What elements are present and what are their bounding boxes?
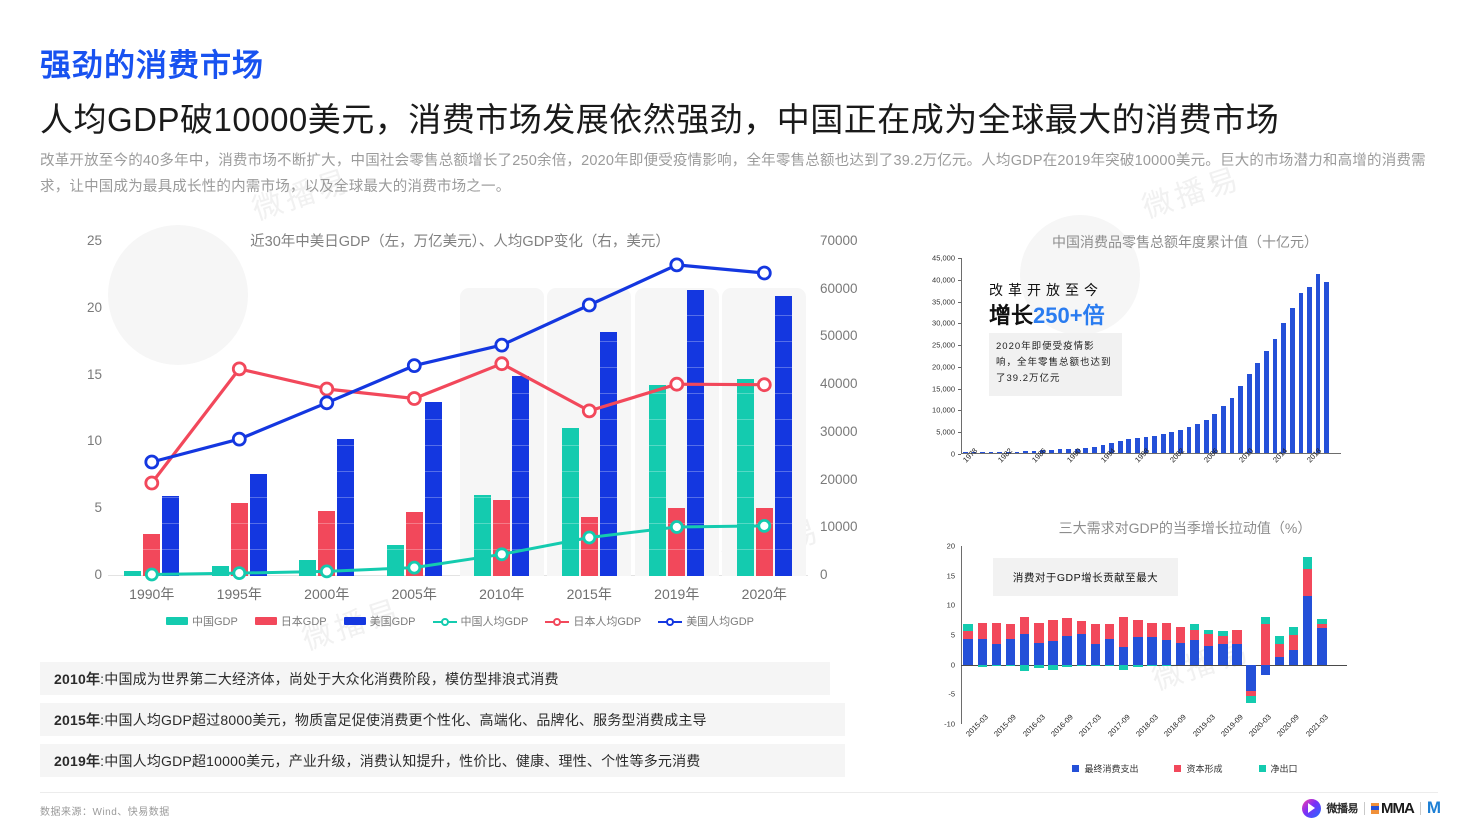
stacked-segment-最终消费支出 — [1147, 637, 1156, 665]
legend-item-美国GDP[interactable]: 美国GDP — [344, 613, 416, 629]
stacked-segment-资本形成 — [1232, 630, 1241, 645]
y-axis-tick-right: 30000 — [820, 424, 858, 439]
retail-growth-suffix: 倍 — [1083, 303, 1105, 328]
gdp-pull-legend: 最终消费支出资本形成净出口 — [905, 762, 1465, 775]
gdp-compare-chart: 近30年中美日GDP（左，万亿美元）、人均GDP变化（右，美元） 中国GDP日本… — [30, 228, 890, 638]
line-marker — [233, 433, 245, 445]
line-marker — [758, 379, 770, 391]
line-marker — [321, 566, 332, 577]
y-axis-tickmark — [958, 280, 961, 281]
x-axis-tick: 2018-03 — [1134, 713, 1160, 739]
stacked-segment-最终消费支出 — [992, 644, 1001, 665]
x-axis-tick: 1982 — [996, 446, 1014, 464]
y-axis-tickmark — [958, 258, 961, 259]
logo-divider — [1364, 802, 1365, 815]
retail-bar — [1264, 351, 1269, 453]
stacked-segment-净出口 — [1091, 665, 1100, 666]
brand-name-cn: 微播易 — [1327, 800, 1359, 816]
gdp-compare-plot — [108, 242, 808, 576]
x-axis-tick: 1990年 — [129, 584, 174, 604]
line-marker — [409, 562, 420, 573]
stacked-segment-最终消费支出 — [1232, 644, 1241, 664]
legend-label: 美国GDP — [370, 613, 416, 629]
line-marker — [146, 569, 157, 580]
stacked-segment-净出口 — [963, 624, 972, 631]
y-axis-tick: 10 — [947, 601, 955, 610]
stacked-segment-最终消费支出 — [1190, 640, 1199, 664]
retail-bar — [1152, 436, 1157, 453]
retail-bar — [1238, 386, 1243, 453]
y-axis-tick: 20 — [947, 542, 955, 551]
y-axis-tick-right: 50000 — [820, 328, 858, 343]
line-marker — [671, 259, 683, 271]
stacked-segment-最终消费支出 — [1062, 636, 1071, 665]
line-marker — [759, 520, 770, 531]
stacked-segment-净出口 — [1133, 665, 1142, 667]
retail-bar — [1221, 406, 1226, 453]
legend-line-swatch — [545, 617, 569, 626]
x-axis-tick: 2010年 — [479, 584, 524, 604]
logo-divider — [1420, 802, 1421, 815]
note-2010: 2010年:中国成为世界第二大经济体，尚处于大众化消费阶段，模仿型排浪式消费 — [40, 662, 830, 695]
legend-label: 美国人均GDP — [686, 613, 754, 629]
y-axis-tick: -10 — [944, 720, 955, 729]
mma-logo: MMA — [1371, 800, 1414, 817]
stacked-segment-最终消费支出 — [1317, 628, 1326, 665]
y-axis-tickmark — [958, 410, 961, 411]
retail-bar — [1281, 323, 1286, 453]
stacked-segment-资本形成 — [1105, 624, 1114, 639]
stacked-segment-最终消费支出 — [1006, 639, 1015, 665]
stacked-segment-资本形成 — [1006, 624, 1015, 638]
retail-bar — [1092, 447, 1097, 453]
stacked-segment-资本形成 — [1275, 644, 1284, 656]
stacked-segment-资本形成 — [1034, 623, 1043, 643]
retail-bar — [1126, 439, 1131, 453]
y-axis-tickmark — [958, 389, 961, 390]
legend-item-中国人均GDP[interactable]: 中国人均GDP — [433, 613, 529, 629]
y-axis-tick-right: 20000 — [820, 472, 858, 487]
gdp-percapita-lines — [108, 242, 808, 576]
y-axis-tick: 35,000 — [932, 297, 955, 306]
retail-total-chart: 中国消费品零售总额年度累计值（十亿元） 05,00010,00015,00020… — [905, 232, 1465, 498]
retail-bar — [1324, 282, 1329, 453]
y-axis-tick: 20,000 — [932, 362, 955, 371]
retail-total-title: 中国消费品零售总额年度累计值（十亿元） — [905, 232, 1465, 252]
retail-bar — [1058, 449, 1063, 453]
stacked-segment-资本形成 — [992, 623, 1001, 644]
stacked-segment-资本形成 — [1218, 636, 1227, 644]
y-axis-tick-right: 60000 — [820, 281, 858, 296]
stacked-segment-最终消费支出 — [1105, 639, 1114, 665]
stacked-segment-最终消费支出 — [1218, 644, 1227, 665]
stacked-segment-资本形成 — [1176, 627, 1185, 643]
legend-item-美国人均GDP[interactable]: 美国人均GDP — [658, 613, 754, 629]
slide-root: 微播易 微播易 微播易 微播易 微播易 强劲的消费市场 人均GDP破10000美… — [0, 0, 1478, 832]
x-axis-tick: 2019-03 — [1191, 713, 1217, 739]
y-axis-tick-right: 0 — [820, 567, 828, 582]
legend-label: 中国人均GDP — [461, 613, 529, 629]
page-kicker: 强劲的消费市场 — [40, 40, 264, 85]
x-axis-tick: 2019-09 — [1219, 713, 1245, 739]
stacked-segment-净出口 — [1317, 619, 1326, 624]
y-axis-tickmark — [958, 454, 961, 455]
stacked-segment-最终消费支出 — [1204, 646, 1213, 665]
y-axis-tick: 0 — [951, 660, 955, 669]
x-axis-tick: 1995年 — [217, 584, 262, 604]
retail-bar — [1169, 432, 1174, 453]
stacked-segment-最终消费支出 — [1133, 637, 1142, 665]
stacked-segment-资本形成 — [1317, 624, 1326, 628]
stacked-segment-最终消费支出 — [963, 639, 972, 665]
stacked-segment-最终消费支出 — [978, 639, 987, 665]
legend-swatch — [1259, 765, 1266, 772]
stacked-segment-净出口 — [1162, 665, 1171, 667]
legend-line-swatch — [433, 617, 457, 626]
footer-divider — [40, 792, 1438, 793]
line-marker — [146, 456, 158, 468]
y-axis-tick-left: 0 — [76, 567, 102, 582]
legend-label: 中国GDP — [192, 613, 238, 629]
play-icon — [1302, 799, 1321, 818]
line-marker — [234, 568, 245, 579]
line-中国人均GDP — [152, 526, 765, 575]
stacked-segment-最终消费支出 — [1275, 657, 1284, 665]
y-axis-tick-left: 15 — [76, 367, 102, 382]
stacked-segment-最终消费支出 — [1246, 665, 1255, 691]
legend-label: 日本人均GDP — [573, 613, 641, 629]
y-axis-line — [961, 546, 962, 724]
x-axis-tick: 2015-03 — [964, 713, 990, 739]
stacked-segment-最终消费支出 — [1077, 634, 1086, 665]
legend-label: 最终消费支出 — [1084, 762, 1138, 775]
stacked-segment-资本形成 — [1077, 621, 1086, 633]
legend-item-最终消费支出[interactable]: 最终消费支出 — [1072, 762, 1138, 775]
stacked-segment-净出口 — [992, 665, 1001, 667]
line-marker — [408, 393, 420, 405]
retail-bar — [1247, 374, 1252, 453]
retail-growth-number: 增长250+倍 — [989, 298, 1105, 330]
legend-swatch — [1072, 765, 1079, 772]
retail-bar — [1083, 448, 1088, 453]
legend-swatch — [166, 617, 188, 625]
y-axis-tickmark — [958, 345, 961, 346]
retail-growth-value: 250+ — [1033, 303, 1083, 328]
x-axis-tick: 2015-09 — [992, 713, 1018, 739]
x-axis-tick: 2017-03 — [1077, 713, 1103, 739]
footer-logo: 微播易 MMA M — [1302, 798, 1441, 818]
y-axis-tick-left: 10 — [76, 433, 102, 448]
stacked-segment-净出口 — [1077, 665, 1086, 667]
stacked-segment-资本形成 — [1147, 623, 1156, 637]
x-axis-tick: 2019年 — [654, 584, 699, 604]
retail-bar — [989, 452, 994, 453]
page-lede: 改革开放至今的40多年中，消费市场不断扩大，中国社会零售总额增长了250余倍，2… — [40, 148, 1440, 200]
y-axis-tick-right: 70000 — [820, 233, 858, 248]
y-axis-tick: 5,000 — [936, 428, 955, 437]
retail-bar — [1316, 274, 1321, 453]
legend-swatch — [255, 617, 277, 625]
gdp-pull-chart: 三大需求对GDP的当季增长拉动值（%） -10-5051015202015-03… — [905, 518, 1465, 783]
legend-item-日本人均GDP[interactable]: 日本人均GDP — [545, 613, 641, 629]
retail-bar — [1023, 451, 1028, 453]
line-marker — [671, 378, 683, 390]
stacked-segment-净出口 — [1246, 696, 1255, 703]
stacked-segment-净出口 — [1034, 665, 1043, 669]
x-axis-tick: 2021-03 — [1304, 713, 1330, 739]
mma-label: MMA — [1381, 800, 1414, 817]
stacked-segment-最终消费支出 — [1176, 643, 1185, 665]
note-2019-year: 2019年 — [54, 751, 100, 771]
y-axis-tick: 30,000 — [932, 319, 955, 328]
gdp-pull-title: 三大需求对GDP的当季增长拉动值（%） — [905, 518, 1465, 538]
retail-growth-prefix: 增长 — [989, 303, 1033, 328]
y-axis-tick-left: 5 — [76, 500, 102, 515]
stacked-segment-资本形成 — [1162, 623, 1171, 640]
retail-bar — [1118, 441, 1123, 453]
legend-item-净出口[interactable]: 净出口 — [1259, 762, 1298, 775]
stacked-segment-资本形成 — [1289, 635, 1298, 650]
retail-bar — [1290, 308, 1295, 453]
stacked-segment-净出口 — [978, 665, 987, 667]
retail-bar — [1195, 424, 1200, 453]
stacked-segment-最终消费支出 — [1289, 650, 1298, 665]
x-axis-tick: 2020年 — [742, 584, 787, 604]
line-marker — [584, 532, 595, 543]
y-axis-tick: 15,000 — [932, 384, 955, 393]
y-axis-tick: 25,000 — [932, 341, 955, 350]
retail-bar — [1307, 287, 1312, 453]
line-marker — [758, 267, 770, 279]
line-marker — [408, 360, 420, 372]
retail-bar — [1299, 293, 1304, 453]
line-marker — [671, 522, 682, 533]
stacked-segment-净出口 — [1020, 665, 1029, 671]
legend-label: 日本GDP — [281, 613, 327, 629]
gdp-compare-legend: 中国GDP日本GDP美国GDP中国人均GDP日本人均GDP美国人均GDP — [30, 613, 890, 629]
gdp-pull-annotation: 消费对于GDP增长贡献至最大 — [993, 558, 1178, 596]
retail-bar — [980, 452, 985, 453]
y-axis-tick: 15 — [947, 571, 955, 580]
y-axis-tickmark — [958, 367, 961, 368]
stacked-segment-资本形成 — [1062, 618, 1071, 635]
stacked-segment-最终消费支出 — [1034, 643, 1043, 665]
y-axis-tick-right: 10000 — [820, 519, 858, 534]
x-axis-tick: 2016-03 — [1021, 713, 1047, 739]
stacked-segment-资本形成 — [1091, 624, 1100, 644]
stacked-segment-净出口 — [1147, 665, 1156, 667]
stacked-segment-资本形成 — [1020, 617, 1029, 634]
y-axis-tick: 0 — [951, 450, 955, 459]
stacked-segment-最终消费支出 — [1303, 596, 1312, 665]
stacked-segment-净出口 — [1062, 665, 1071, 667]
stacked-segment-最终消费支出 — [1119, 647, 1128, 665]
stacked-segment-净出口 — [1261, 617, 1270, 625]
stacked-segment-净出口 — [1190, 624, 1199, 629]
legend-label: 净出口 — [1271, 762, 1298, 775]
stacked-segment-资本形成 — [1133, 620, 1142, 637]
stacked-segment-净出口 — [1006, 665, 1015, 667]
stacked-segment-最终消费支出 — [1162, 640, 1171, 665]
line-marker — [583, 299, 595, 311]
y-axis-tickmark — [958, 323, 961, 324]
stacked-segment-最终消费支出 — [1091, 644, 1100, 665]
stacked-segment-净出口 — [1204, 630, 1213, 635]
y-axis-tickmark — [958, 302, 961, 303]
note-2015: 2015年:中国人均GDP超过8000美元，物质富足促使消费更个性化、高端化、品… — [40, 703, 845, 736]
retail-bar — [1204, 420, 1209, 453]
legend-item-资本形成[interactable]: 资本形成 — [1174, 762, 1222, 775]
line-marker — [496, 549, 507, 560]
stacked-segment-净出口 — [1048, 665, 1057, 670]
stacked-segment-资本形成 — [978, 623, 987, 640]
retail-bar — [1161, 434, 1166, 453]
legend-swatch — [1174, 765, 1181, 772]
x-axis-tick: 2016-09 — [1049, 713, 1075, 739]
stacked-segment-净出口 — [1119, 665, 1128, 670]
m-logo: M — [1427, 798, 1440, 818]
mma-bars-icon — [1371, 803, 1379, 814]
x-axis-tick: 2015年 — [567, 584, 612, 604]
stacked-segment-最终消费支出 — [1261, 665, 1270, 676]
x-axis-tick: 1978 — [961, 446, 979, 464]
stacked-segment-净出口 — [1275, 636, 1284, 644]
y-axis-tick: 40,000 — [932, 275, 955, 284]
stacked-segment-资本形成 — [963, 631, 972, 638]
legend-line-swatch — [658, 617, 682, 626]
note-2015-year: 2015年 — [54, 710, 100, 730]
legend-swatch — [344, 617, 366, 625]
x-axis-tick: 2020-09 — [1275, 713, 1301, 739]
y-axis-tick: 5 — [951, 631, 955, 640]
stacked-segment-净出口 — [1289, 627, 1298, 635]
stacked-segment-资本形成 — [1261, 624, 1270, 664]
stacked-segment-资本形成 — [1119, 617, 1128, 647]
x-axis-tick: 2017-09 — [1106, 713, 1132, 739]
stacked-segment-净出口 — [1105, 665, 1114, 666]
y-axis-tick-right: 40000 — [820, 376, 858, 391]
note-2019: 2019年:中国人均GDP超10000美元，产业升级，消费认知提升，性价比、健康… — [40, 744, 845, 777]
y-axis-line — [961, 258, 962, 454]
line-marker — [583, 405, 595, 417]
retail-bar — [1049, 450, 1054, 453]
stacked-segment-净出口 — [1303, 557, 1312, 568]
y-axis-tick-left: 25 — [76, 233, 102, 248]
stacked-segment-净出口 — [1218, 631, 1227, 636]
retail-caption: 改革开放至今 — [989, 280, 1103, 300]
line-marker — [321, 383, 333, 395]
line-marker — [496, 358, 508, 370]
stacked-segment-资本形成 — [1303, 569, 1312, 596]
x-axis-tick: 1986 — [1030, 446, 1048, 464]
x-axis-tick: 2005年 — [392, 584, 437, 604]
x-axis-tick: 2000年 — [304, 584, 349, 604]
y-axis-tick-left: 20 — [76, 300, 102, 315]
retail-bar — [1015, 452, 1020, 453]
stacked-segment-资本形成 — [1048, 620, 1057, 641]
stacked-segment-最终消费支出 — [1048, 641, 1057, 665]
y-axis-tick: 45,000 — [932, 254, 955, 263]
legend-item-日本GDP[interactable]: 日本GDP — [255, 613, 327, 629]
legend-item-中国GDP[interactable]: 中国GDP — [166, 613, 238, 629]
retail-bar — [1187, 427, 1192, 453]
y-axis-tickmark — [958, 432, 961, 433]
retail-bar — [1230, 398, 1235, 453]
retail-bar — [1273, 339, 1278, 453]
line-marker — [496, 339, 508, 351]
note-2010-text: :中国成为世界第二大经济体，尚处于大众化消费阶段，模仿型排浪式消费 — [100, 669, 559, 689]
legend-label: 资本形成 — [1186, 762, 1222, 775]
stacked-segment-资本形成 — [1190, 630, 1199, 641]
line-marker — [321, 397, 333, 409]
x-axis-tick: 2020-03 — [1247, 713, 1273, 739]
retail-bar — [1255, 363, 1260, 453]
x-axis-tick: 2018-09 — [1162, 713, 1188, 739]
y-axis-tick: 10,000 — [932, 406, 955, 415]
page-title: 人均GDP破10000美元，消费市场发展依然强劲，中国正在成为全球最大的消费市场 — [40, 93, 1279, 141]
stacked-segment-最终消费支出 — [1020, 634, 1029, 665]
note-2019-text: :中国人均GDP超10000美元，产业升级，消费认知提升，性价比、健康、理性、个… — [100, 751, 700, 771]
footer-source: 数据来源：Wind、快易数据 — [40, 803, 170, 818]
y-axis-tick: -5 — [948, 690, 955, 699]
line-marker — [146, 477, 158, 489]
note-2010-year: 2010年 — [54, 669, 100, 689]
line-marker — [233, 363, 245, 375]
stacked-segment-资本形成 — [1204, 634, 1213, 645]
retail-subnote: 2020年即便受疫情影响，全年零售总额也达到了39.2万亿元 — [989, 333, 1122, 396]
note-2015-text: :中国人均GDP超过8000美元，物质富足促使消费更个性化、高端化、品牌化、服务… — [100, 710, 707, 730]
